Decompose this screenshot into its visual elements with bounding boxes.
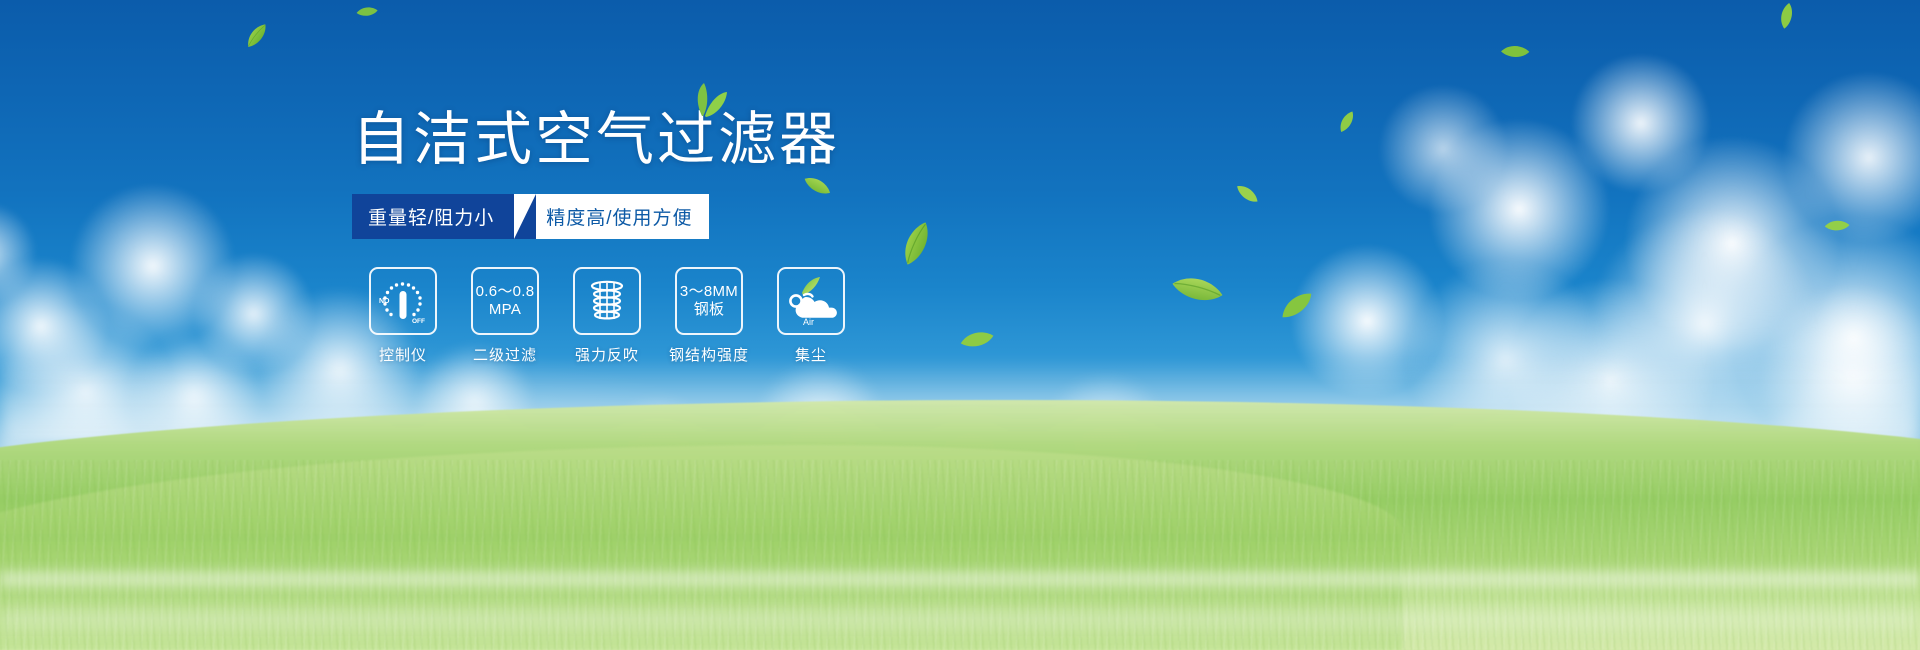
svg-text:Air: Air: [803, 317, 814, 327]
badge-label: 重量轻/阻力小: [368, 203, 494, 230]
air-cloud-icon: Air: [782, 275, 840, 327]
feature-text-line-2: MPA: [489, 301, 521, 319]
feature-text-line-2: 钢板: [694, 301, 725, 319]
feature-icon-box: [573, 267, 641, 335]
leaf-icon: [241, 23, 273, 50]
banner-content: 自洁式空气过滤器 重量轻/阻力小 精度高/使用方便: [352, 104, 1072, 365]
feature-label: 强力反吹: [556, 344, 658, 365]
feature-text-line-1: 0.6～0.8: [476, 283, 535, 301]
feature-item-dust[interactable]: Air 集尘: [760, 267, 862, 365]
leaf-icon: [355, 3, 378, 21]
leaf-icon: [1499, 39, 1530, 65]
filter-coil-icon: [581, 275, 633, 327]
leaf-icon: [1334, 110, 1360, 134]
feature-label: 控制仪: [352, 344, 454, 365]
feature-icon-box: 0.6～0.8 MPA: [471, 267, 539, 335]
hero-banner: 自洁式空气过滤器 重量轻/阻力小 精度高/使用方便: [0, 0, 1920, 650]
title-block: 自洁式空气过滤器: [352, 104, 1072, 180]
feature-label: 集尘: [760, 344, 862, 365]
feature-label: 钢结构强度: [658, 344, 760, 365]
leaf-icon: [1169, 263, 1226, 316]
feature-item-steel[interactable]: 3～8MM 钢板 钢结构强度: [658, 267, 760, 365]
feature-icon-box: 3～8MM 钢板: [675, 267, 743, 335]
leaf-icon: [1277, 291, 1317, 320]
feature-item-control[interactable]: NO OFF 控制仪: [352, 267, 454, 365]
badge-label: 精度高/使用方便: [546, 203, 692, 230]
svg-text:OFF: OFF: [412, 318, 425, 325]
grass-highlight-lower: [0, 602, 1920, 636]
feature-item-filtration[interactable]: 0.6～0.8 MPA 二级过滤: [454, 267, 556, 365]
badge-row: 重量轻/阻力小 精度高/使用方便: [352, 194, 670, 239]
feature-label: 二级过滤: [454, 344, 556, 365]
svg-text:NO: NO: [379, 298, 390, 305]
cloud-right: [1200, 20, 1920, 450]
leaf-icon: [1823, 215, 1850, 237]
leaf-icon: [1235, 180, 1259, 208]
feature-icon-box: Air: [777, 267, 845, 335]
badge-precision[interactable]: 精度高/使用方便: [512, 194, 708, 239]
leaf-icon: [1774, 1, 1801, 30]
feature-item-blowback[interactable]: 强力反吹: [556, 267, 658, 365]
feature-text-line-1: 3～8MM: [680, 283, 738, 301]
grass-highlight: [0, 566, 1920, 592]
title-leaf-icon: [682, 82, 728, 123]
feature-row: NO OFF 控制仪 0.6～0.8 MPA 二级过滤: [352, 267, 1072, 365]
badge-lightweight[interactable]: 重量轻/阻力小: [352, 194, 514, 239]
feature-icon-box: NO OFF: [369, 267, 437, 335]
gauge-icon: NO OFF: [375, 276, 431, 326]
